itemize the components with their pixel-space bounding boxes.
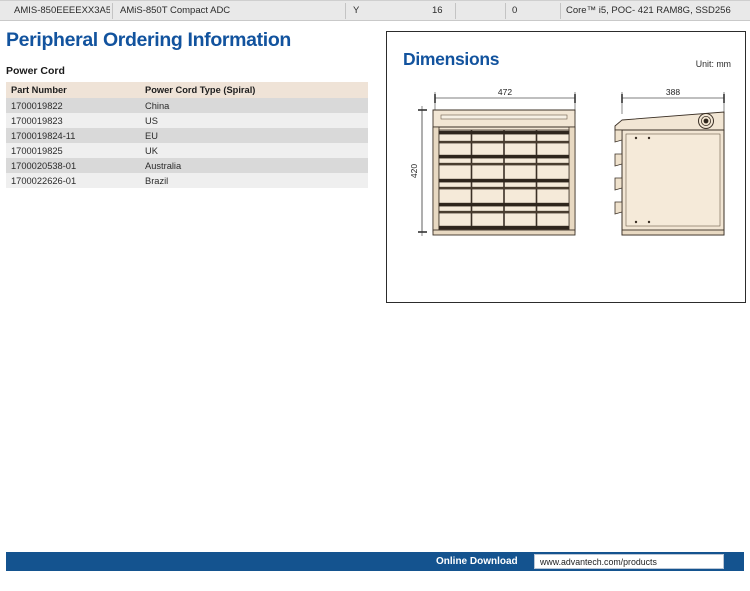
spec-divider-1	[112, 3, 113, 19]
table-header-row: Part Number Power Cord Type (Spiral)	[6, 82, 368, 98]
dimension-drawing: 472 420	[387, 84, 747, 299]
cell-part-number: 1700019825	[6, 143, 140, 158]
spec-divider-5	[560, 3, 561, 19]
spec-divider-3	[455, 3, 456, 19]
table-head: Part Number Power Cord Type (Spiral)	[6, 82, 368, 98]
spec-cell-model-description: AMiS-850T Compact ADC	[120, 1, 340, 20]
table-body: 1700019822 China 1700019823 US 170001982…	[6, 98, 368, 188]
front-height-label: 420	[409, 164, 419, 178]
cell-part-number: 1700020538-01	[6, 158, 140, 173]
spec-cell-slots: 16	[432, 1, 472, 20]
cell-cord-type: China	[140, 98, 368, 113]
page-title: Peripheral Ordering Information	[6, 30, 368, 51]
table-row: 1700019822 China	[6, 98, 368, 113]
cell-part-number: 1700019823	[6, 113, 140, 128]
table-row: 1700019824-11 EU	[6, 128, 368, 143]
spec-cell-cpu-config: Core™ i5, POC- 421 RAM8G, SSD256	[566, 1, 746, 20]
side-width-label: 388	[666, 87, 680, 97]
dimensions-title: Dimensions	[403, 49, 499, 70]
col-header-power-cord-type: Power Cord Type (Spiral)	[140, 82, 368, 98]
cell-cord-type: Brazil	[140, 173, 368, 188]
spec-strip-row: AMIS-850EEEEXX3A53 AMiS-850T Compact ADC…	[0, 0, 750, 21]
table-row: 1700019825 UK	[6, 143, 368, 158]
side-port-icon	[704, 119, 709, 124]
cell-part-number: 1700019822	[6, 98, 140, 113]
spec-cell-flag: Y	[353, 1, 393, 20]
footer-download-label: Online Download	[436, 552, 518, 571]
cell-cord-type: UK	[140, 143, 368, 158]
cell-part-number: 1700019824-11	[6, 128, 140, 143]
cell-part-number: 1700022626-01	[6, 173, 140, 188]
dimensions-panel: Dimensions Unit: mm 472 4	[386, 31, 746, 303]
spec-cell-zero-count: 0	[512, 1, 552, 20]
cell-cord-type: EU	[140, 128, 368, 143]
front-view-drawing: 472 420	[409, 87, 575, 236]
power-cord-table: Part Number Power Cord Type (Spiral) 170…	[6, 82, 368, 188]
table-row: 1700020538-01 Australia	[6, 158, 368, 173]
footer-url-box[interactable]: www.advantech.com/products	[534, 554, 724, 569]
cell-cord-type: Australia	[140, 158, 368, 173]
table-row: 1700022626-01 Brazil	[6, 173, 368, 188]
table-row: 1700019823 US	[6, 113, 368, 128]
footer-bar: Online Download www.advantech.com/produc…	[6, 552, 744, 571]
spec-cell-part-number: AMIS-850EEEEXX3A53	[14, 1, 110, 20]
footer-url-text[interactable]: www.advantech.com/products	[540, 555, 657, 570]
spec-divider-4	[505, 3, 506, 19]
side-view-drawing: 388	[615, 87, 724, 235]
dimensions-unit-label: Unit: mm	[696, 59, 731, 69]
document-page: AMIS-850EEEEXX3A53 AMiS-850T Compact ADC…	[0, 0, 750, 591]
cell-cord-type: US	[140, 113, 368, 128]
spec-divider-2	[345, 3, 346, 19]
col-header-part-number: Part Number	[6, 82, 140, 98]
left-content-column: Peripheral Ordering Information Power Co…	[6, 30, 368, 188]
section-title-power-cord: Power Cord	[6, 65, 368, 77]
front-width-label: 472	[498, 87, 512, 97]
